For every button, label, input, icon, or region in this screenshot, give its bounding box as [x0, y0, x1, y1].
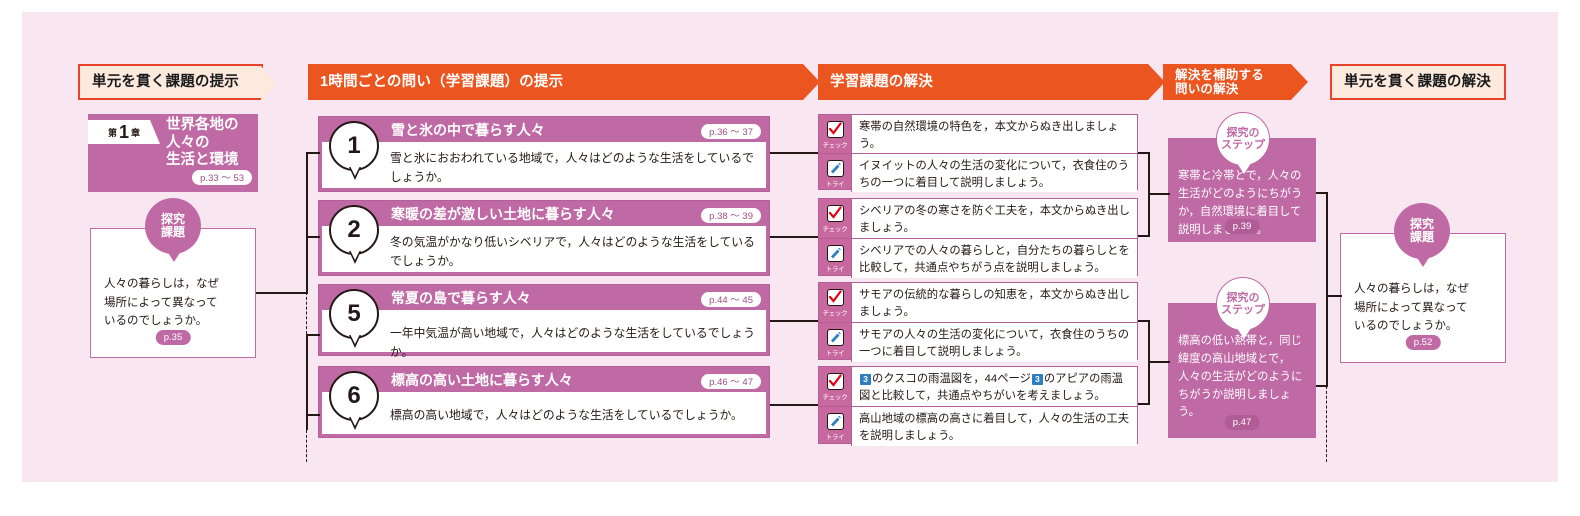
lesson-title: 標高の高い土地に暮らす人々: [391, 370, 573, 390]
lesson-title: 寒暖の差が激しい土地に暮らす人々: [391, 204, 615, 224]
try-icon-label: トライ: [826, 178, 845, 188]
check-icon-cell: チェック: [819, 283, 851, 322]
lesson-number-badge: 2: [329, 205, 379, 255]
page-chip-label: p.46 ～ 47: [701, 374, 761, 389]
check-icon-label: チェック: [823, 139, 848, 149]
task-group: チェック 3のクスコの雨温図を，44ページ3のアピアの雨温図と比較して，共通点や…: [818, 366, 1138, 444]
inquiry-text: 人々の暮らしは，なぜ 場所によって異なって いるのでしょうか。: [1354, 280, 1495, 336]
task-row-check[interactable]: チェック 3のクスコの雨温図を，44ページ3のアピアの雨温図と比較して，共通点や…: [819, 367, 1137, 407]
bubble-inquiry-step-2: 探究の ステップ: [1216, 277, 1270, 331]
task-row-try[interactable]: トライ サモアの人々の生活の変化について，衣食住のうちの一つに着目して説明しまし…: [819, 323, 1137, 362]
task-row-try[interactable]: トライ 高山地域の標高の高さに着目して，人々の生活の工夫を説明しましょう。: [819, 407, 1137, 446]
connector-lesson5-task3: [770, 320, 818, 322]
lesson-page-chip: p.44 ～ 45: [701, 290, 761, 308]
lesson-header: 寒暖の差が激しい土地に暮らす人々 p.38 ～ 39: [319, 201, 769, 226]
try-icon-cell: トライ: [819, 154, 851, 192]
connector-bracket-step1-bottom: [1138, 235, 1150, 237]
lesson-card[interactable]: 雪と氷の中で暮らす人々 p.36 ～ 37 雪と氷におおわれている地域で，人々は…: [318, 116, 770, 192]
banner-label: 単元を貫く課題の解決: [1344, 74, 1491, 91]
lesson-page-chip: p.38 ～ 39: [701, 206, 761, 224]
connector-to-lesson-2: [306, 236, 320, 238]
lesson-header: 雪と氷の中で暮らす人々 p.36 ～ 37: [319, 117, 769, 142]
checkbox-check-icon: [827, 205, 844, 222]
try-icon-label: トライ: [826, 263, 845, 273]
bubble-inquiry-step-1: 探究の ステップ: [1216, 112, 1270, 166]
step-text: 標高の低い熱帯と，同じ緯度の高山地域とで，人々の生活がどのようにちがうか説明しま…: [1178, 333, 1307, 422]
task-try-text: サモアの人々の生活の変化について，衣食住のうちの一つに着目して説明しましょう。: [851, 323, 1137, 362]
lesson-number-badge: 6: [329, 371, 379, 421]
connector-lesson2-task2: [770, 236, 818, 238]
step-page-chip: p.39: [1225, 216, 1260, 234]
page-chip-label: p.47: [1225, 415, 1260, 430]
bubble-inquiry-task-left: 探究 課題: [145, 198, 201, 254]
connector-to-lesson-5: [306, 334, 320, 336]
page-chip-label: p.36 ～ 37: [701, 124, 761, 139]
banner-solve-unit-task: 単元を貫く課題の解決: [1330, 64, 1506, 100]
chapter-title: 世界各地の人々の 生活と環境: [166, 117, 256, 170]
lesson-title: 雪と氷の中で暮らす人々: [391, 120, 545, 140]
task-check-text: 寒帯の自然環境の特色を，本文からぬき出しましょう。: [851, 115, 1137, 153]
pencil-note-icon: [827, 160, 844, 177]
connector-step1-out: [1316, 192, 1328, 194]
figure-reference-badge: 3: [1032, 374, 1043, 385]
lesson-question: 一年中気温が高い地域で，人々はどのような生活をしているでしょうか。: [322, 310, 766, 352]
try-icon-cell: トライ: [819, 407, 851, 446]
step-page-chip: p.47: [1225, 412, 1260, 430]
task-try-text: 高山地域の標高の高さに着目して，人々の生活の工夫を説明しましょう。: [851, 407, 1137, 446]
connector-lesson1-task1: [770, 152, 818, 154]
banner-label: 学習課題の解決: [830, 74, 933, 91]
page-chip-label: p.35: [156, 330, 191, 345]
try-icon-label: トライ: [826, 347, 845, 357]
lesson-question: 雪と氷におおわれている地域で，人々はどのような生活をしているでしょうか。: [322, 142, 766, 188]
inquiry-page-chip: p.52: [1406, 332, 1441, 350]
chapter-ribbon: 第 1 章: [88, 120, 160, 144]
connector-bracket-step2-top: [1138, 320, 1150, 322]
task-try-text: イヌイットの人々の生活の変化について，衣食住のうちの一つに着目して説明しましょう…: [851, 154, 1137, 192]
connector-to-lesson-6: [306, 414, 320, 416]
page-chip-label: p.39: [1225, 219, 1260, 234]
lesson-number-badge: 5: [329, 289, 379, 339]
check-icon-cell: チェック: [819, 199, 851, 238]
connector-spine-dashed-upper: [306, 292, 307, 334]
task-row-try[interactable]: トライ シベリアでの人々の暮らしと，自分たちの暮らしとを比較して，共通点やちがう…: [819, 239, 1137, 278]
check-icon-cell: チェック: [819, 367, 851, 406]
chapter-box: 第 1 章 世界各地の人々の 生活と環境 p.33 ～ 53: [88, 114, 258, 192]
connector-to-lesson-1: [306, 152, 320, 154]
banner-label: 解決を補助する 問いの解決: [1175, 68, 1264, 97]
try-icon-cell: トライ: [819, 239, 851, 278]
page-chip-label: p.52: [1406, 335, 1441, 350]
check-icon-cell: チェック: [819, 115, 851, 153]
lesson-card[interactable]: 常夏の島で暮らす人々 p.44 ～ 45 一年中気温が高い地域で，人々はどのよう…: [318, 284, 770, 356]
task-row-check[interactable]: チェック サモアの伝統的な暮らしの知恵を，本文からぬき出しましょう。: [819, 283, 1137, 323]
page-chip-label: p.33 ～ 53: [192, 170, 252, 185]
banner-solve-support-question: 解決を補助する 問いの解決: [1163, 64, 1291, 100]
lesson-number-badge: 1: [329, 121, 379, 171]
try-icon-label: トライ: [826, 431, 845, 441]
page-chip-label: p.38 ～ 39: [701, 208, 761, 223]
inquiry-text: 人々の暮らしは，なぜ 場所によって異なって いるのでしょうか。: [104, 275, 245, 331]
task-check-text: シベリアの冬の寒さを防ぐ工夫を，本文からぬき出しましょう。: [851, 199, 1137, 238]
connector-step2-in: [1148, 361, 1170, 363]
checkbox-check-icon: [827, 373, 844, 390]
banner-label: 単元を貫く課題の提示: [92, 74, 239, 91]
task-row-check[interactable]: チェック 寒帯の自然環境の特色を，本文からぬき出しましょう。: [819, 115, 1137, 154]
banner-solve-learning-task: 学習課題の解決: [818, 64, 1148, 100]
banner-label: 1時間ごとの問い（学習課題）の提示: [320, 74, 563, 91]
lesson-page-chip: p.36 ～ 37: [701, 122, 761, 140]
bubble-inquiry-task-right: 探究 課題: [1394, 203, 1450, 259]
check-icon-label: チェック: [823, 391, 848, 401]
chapter-suffix: 章: [131, 126, 140, 139]
connector-right-dashed: [1326, 386, 1327, 462]
connector-bracket-step2-bottom: [1138, 403, 1150, 405]
task-try-text: シベリアでの人々の暮らしと，自分たちの暮らしとを比較して，共通点やちがう点を説明…: [851, 239, 1137, 278]
connector-left-inquiry: [256, 292, 308, 294]
connector-step1-in: [1148, 193, 1170, 195]
task-check-text: サモアの伝統的な暮らしの知恵を，本文からぬき出しましょう。: [851, 283, 1137, 322]
chapter-page-chip: p.33 ～ 53: [192, 168, 252, 186]
checkbox-check-icon: [827, 289, 844, 306]
connector-spine-lower: [306, 334, 308, 430]
banner-present-unit-task: 単元を貫く課題の提示: [78, 64, 263, 100]
connector-right-inquiry: [1326, 295, 1342, 297]
chapter-number: 1: [119, 123, 129, 141]
lesson-page-chip: p.46 ～ 47: [701, 372, 761, 390]
page-chip-label: p.44 ～ 45: [701, 292, 761, 307]
task-group: チェック 寒帯の自然環境の特色を，本文からぬき出しましょう。 トライ イヌイット…: [818, 114, 1138, 190]
connector-spine-upper: [306, 152, 308, 292]
inquiry-page-chip: p.35: [156, 327, 191, 345]
lesson-card[interactable]: 寒暖の差が激しい土地に暮らす人々 p.38 ～ 39 冬の気温がかなり低いシベリ…: [318, 200, 770, 276]
connector-lesson6-task4: [770, 404, 818, 406]
try-icon-cell: トライ: [819, 323, 851, 362]
lesson-header: 常夏の島で暮らす人々 p.44 ～ 45: [319, 285, 769, 310]
task-row-check[interactable]: チェック シベリアの冬の寒さを防ぐ工夫を，本文からぬき出しましょう。: [819, 199, 1137, 239]
pencil-note-icon: [827, 245, 844, 262]
task-row-try[interactable]: トライ イヌイットの人々の生活の変化について，衣食住のうちの一つに着目して説明し…: [819, 154, 1137, 192]
connector-spine-dashed-lower: [306, 430, 307, 462]
connector-right-spine: [1326, 192, 1328, 386]
lesson-question: 標高の高い地域で，人々はどのような生活をしているでしょうか。: [322, 392, 766, 434]
pencil-note-icon: [827, 413, 844, 430]
banner-present-hourly-question: 1時間ごとの問い（学習課題）の提示: [308, 64, 803, 100]
check-icon-label: チェック: [823, 223, 848, 233]
connector-bracket-step1-top: [1138, 152, 1150, 154]
check-icon-label: チェック: [823, 307, 848, 317]
lesson-question: 冬の気温がかなり低いシベリアで，人々はどのような生活をしているでしょうか。: [322, 226, 766, 272]
task-check-text: 3のクスコの雨温図を，44ページ3のアピアの雨温図と比較して，共通点やちがいを考…: [851, 367, 1137, 406]
checkbox-check-icon: [827, 121, 844, 138]
pencil-note-icon: [827, 329, 844, 346]
lesson-card[interactable]: 標高の高い土地に暮らす人々 p.46 ～ 47 標高の高い地域で，人々はどのよう…: [318, 366, 770, 438]
lesson-header: 標高の高い土地に暮らす人々 p.46 ～ 47: [319, 367, 769, 392]
task-group: チェック サモアの伝統的な暮らしの知恵を，本文からぬき出しましょう。 トライ サ…: [818, 282, 1138, 360]
diagram-canvas: 単元を貫く課題の提示 1時間ごとの問い（学習課題）の提示 学習課題の解決 解決を…: [0, 0, 1580, 516]
figure-reference-badge: 3: [860, 374, 871, 385]
task-group: チェック シベリアの冬の寒さを防ぐ工夫を，本文からぬき出しましょう。 トライ シ…: [818, 198, 1138, 276]
chapter-prefix: 第: [108, 126, 117, 139]
lesson-title: 常夏の島で暮らす人々: [391, 288, 531, 308]
